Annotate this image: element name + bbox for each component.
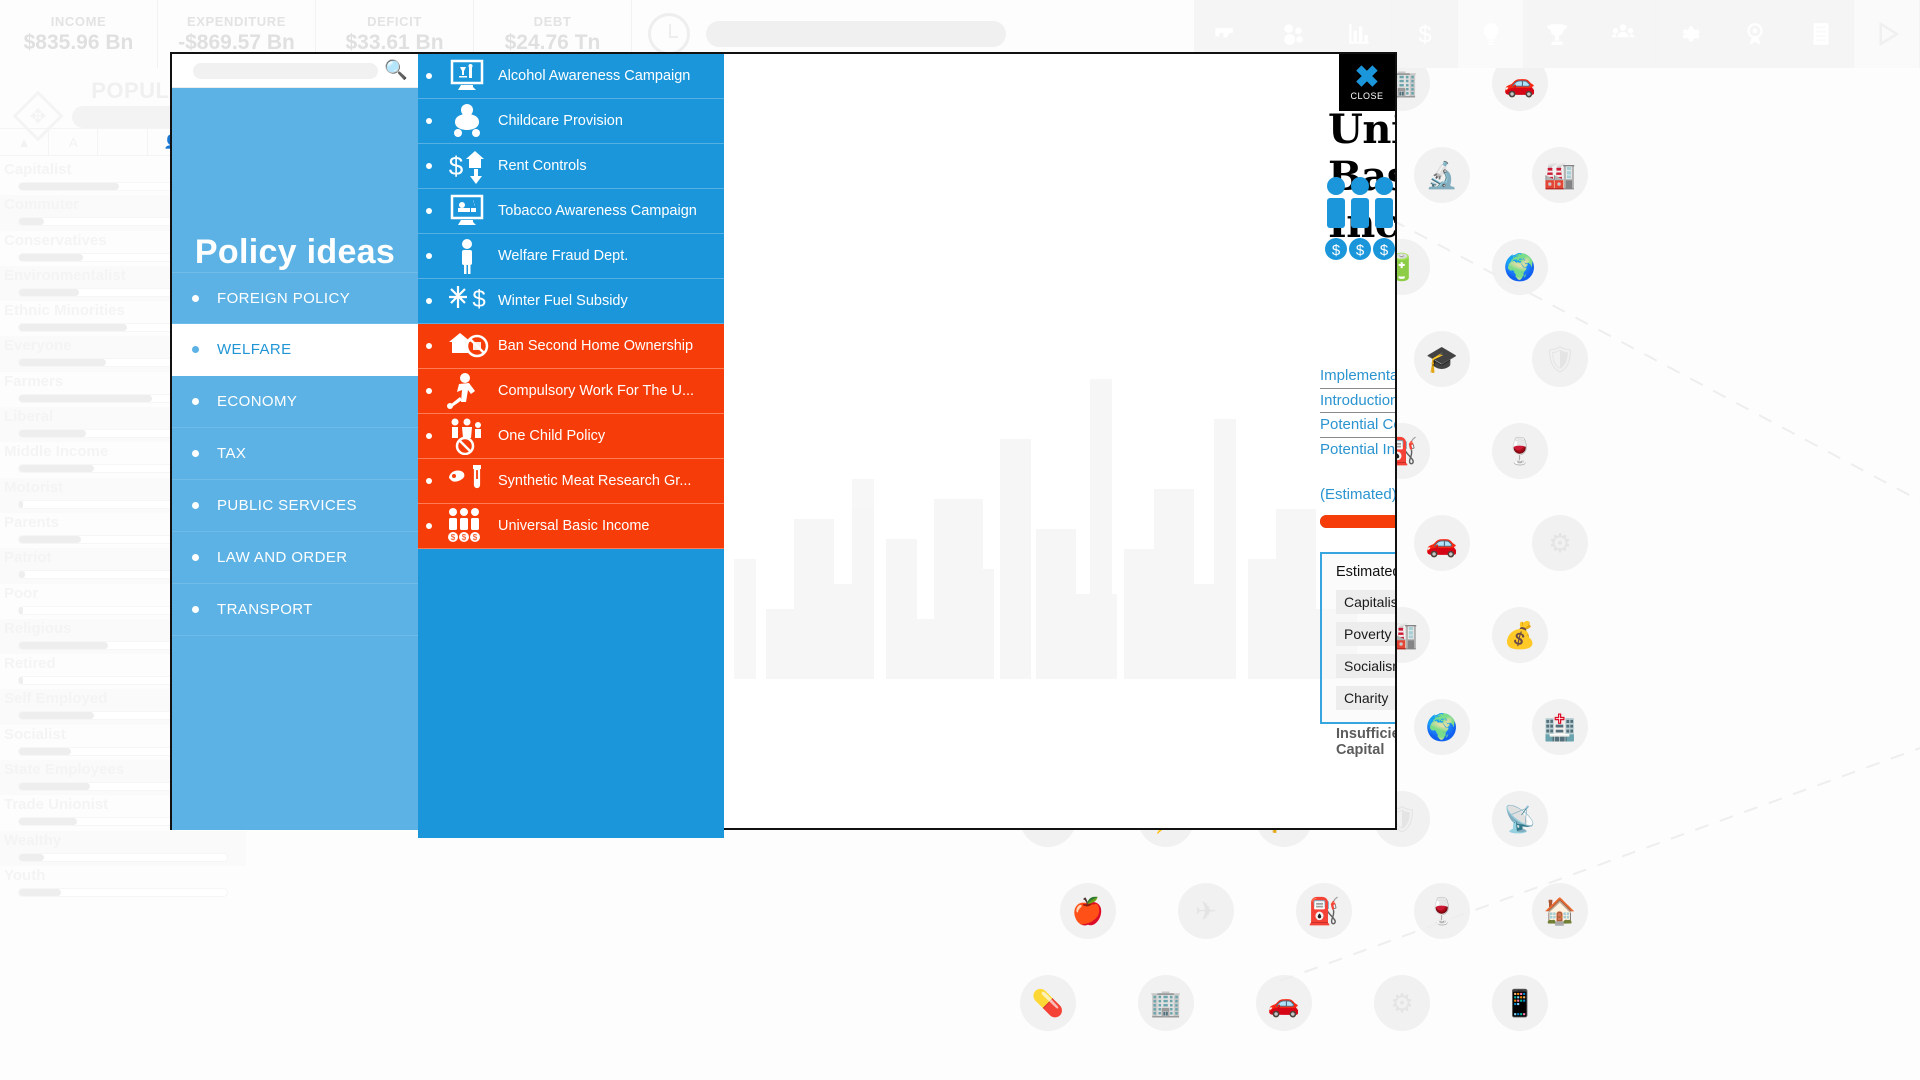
policy-label: Compulsory Work For The U...: [498, 383, 694, 399]
effect-name: Capitalist: [1344, 594, 1395, 610]
dollar-icon[interactable]: $: [1392, 0, 1458, 68]
gear-icon[interactable]: [1656, 0, 1722, 68]
city-skyline-backdrop: [724, 259, 1395, 679]
skyline-building: [886, 539, 917, 679]
medal-icon[interactable]: [1722, 0, 1788, 68]
popularity-meter: [1320, 515, 1395, 528]
background-watermark-icon: 💊: [1020, 975, 1076, 1031]
popularity-group-name: Everyone: [4, 337, 72, 354]
stat-key: Introduction cost (Political capital):: [1320, 392, 1395, 409]
tobacco-screen-icon: [442, 190, 492, 232]
popularity-group-name: Religious: [4, 620, 72, 637]
popularity-group-name: Conservatives: [4, 232, 107, 249]
list-item[interactable]: Alcohol Awareness Campaign: [418, 54, 724, 99]
policy-column: Alcohol Awareness CampaignChildcare Prov…: [418, 54, 724, 828]
popularity-group-name: Youth: [4, 867, 45, 884]
policy-label: Winter Fuel Subsidy: [498, 293, 628, 309]
category-label: FOREIGN POLICY: [217, 290, 350, 307]
popularity-section: (Estimated) Popularity with voters 32%: [1320, 486, 1395, 528]
list-item[interactable]: Tobacco Awareness Campaign: [418, 189, 724, 234]
popularity-group-bar-fill: [19, 818, 77, 825]
category-label: WELFARE: [217, 341, 291, 358]
svg-text:$: $: [449, 151, 464, 181]
background-watermark-icon: 🏢: [1138, 975, 1194, 1031]
skyline-building: [1000, 439, 1031, 679]
svg-text:$: $: [1418, 22, 1431, 47]
svg-text:$: $: [472, 286, 485, 313]
policy-list-empty-area: [418, 549, 724, 838]
background-watermark-icon: ⚙: [1374, 975, 1430, 1031]
bullet-icon: [426, 433, 432, 439]
category-list: Policy ideas FOREIGN POLICYWELFAREECONOM…: [172, 88, 418, 830]
background-watermark-icon: ⛽: [1296, 883, 1352, 939]
sidebar-item-economy[interactable]: ECONOMY: [172, 376, 418, 428]
stat-row: Introduction cost (Political capital):30…: [1320, 389, 1395, 414]
popularity-group-bar-fill: [19, 607, 23, 614]
stat-label: EXPENDITURE: [187, 14, 286, 29]
category-column: 🔍 Policy ideas FOREIGN POLICYWELFAREECON…: [172, 54, 418, 828]
background-watermark-icon: ⚙: [1532, 515, 1588, 571]
close-x-icon: ✖: [1354, 65, 1379, 91]
list-item[interactable]: Synthetic Meat Research Gr...: [418, 459, 724, 504]
bullet-icon: [426, 298, 432, 304]
stat-value: $835.96 Bn: [24, 31, 134, 55]
svg-text:$: $: [473, 533, 478, 542]
popularity-group-name: Trade Unionist: [4, 796, 108, 813]
skyline-building: [972, 569, 994, 679]
popularity-group-name: State Employees: [4, 761, 124, 778]
bullet-icon: [192, 554, 199, 561]
dialog-heading: Policy ideas: [172, 88, 418, 272]
lightbulb-icon[interactable]: [1458, 0, 1524, 68]
popularity-group-bar-fill: [19, 677, 23, 684]
stat-key: Potential Income:: [1320, 441, 1395, 458]
stat-label: INCOME: [51, 14, 107, 29]
dollar-house-icon: $: [442, 145, 492, 187]
close-label: CLOSE: [1350, 91, 1383, 101]
background-watermark-icon: 📱: [1492, 975, 1548, 1031]
background-watermark-icon: 🛡: [1532, 331, 1588, 387]
background-watermark-icon: 🏭: [1532, 147, 1588, 203]
bullet-icon: [426, 523, 432, 529]
popularity-group-bar-fill: [19, 395, 152, 402]
skyline-building: [734, 559, 756, 679]
bullet-icon: [426, 73, 432, 79]
skyline-building: [1124, 549, 1155, 679]
popularity-group-name: Motorist: [4, 479, 63, 496]
list-item[interactable]: One Child Policy: [418, 414, 724, 459]
effect-cell[interactable]: Socialism: [1336, 654, 1395, 678]
bullet-icon: [192, 398, 199, 405]
popularity-group-bar-fill: [19, 536, 81, 543]
group-icon[interactable]: [1590, 0, 1656, 68]
skyline-building: [852, 479, 874, 679]
tab-blank[interactable]: [98, 129, 147, 155]
background-watermark-icon: 🍷: [1414, 883, 1470, 939]
stat-row: Potential Costs:$27.92 Bn - $167.55 Bn: [1320, 413, 1395, 438]
effect-name: Charity: [1344, 690, 1388, 706]
search-input[interactable]: [193, 63, 378, 79]
list-item[interactable]: $$$Universal Basic Income: [418, 504, 724, 549]
policy-stats-table: Implementation time:1 QuartersIntroducti…: [1320, 364, 1395, 462]
warning-message: Insufficient Capital: [1336, 726, 1395, 758]
skyline-building: [766, 609, 797, 679]
people-money-icon: $$$: [442, 505, 492, 547]
popularity-group-name: Retired: [4, 655, 56, 672]
background-watermark-icon: 🍎: [1060, 883, 1116, 939]
meat-lab-icon: [442, 460, 492, 502]
popularity-group-name: Middle Income: [4, 443, 108, 460]
stat-value: $24.76 Tn: [505, 31, 601, 55]
search-bar[interactable]: 🔍: [172, 54, 418, 88]
category-label: LAW AND ORDER: [217, 549, 348, 566]
estimated-effects-panel: Estimated Effects: CapitalistSocialistPo…: [1320, 552, 1395, 724]
sidebar-item-transport[interactable]: TRANSPORT: [172, 584, 418, 636]
background-watermark-icon: 💰: [1492, 607, 1548, 663]
popularity-group-name: Capitalist: [4, 161, 72, 178]
bullet-icon: [192, 450, 199, 457]
document-icon[interactable]: [1788, 0, 1854, 68]
stat-value: -$869.57 Bn: [178, 31, 295, 55]
popularity-group-bar-fill: [19, 289, 79, 296]
play-icon[interactable]: [1854, 0, 1920, 68]
stat-label: DEFICIT: [367, 14, 422, 29]
bullet-icon: [192, 295, 199, 302]
popularity-group-bar-fill: [19, 430, 86, 437]
stat-row: Implementation time:1 Quarters: [1320, 364, 1395, 389]
policy-label: Ban Second Home Ownership: [498, 338, 693, 354]
stat-label: DEBT: [534, 14, 572, 29]
family-ban-icon: [442, 415, 492, 457]
popularity-label: (Estimated) Popularity with voters: [1320, 486, 1395, 503]
list-item[interactable]: Compulsory Work For The U...: [418, 369, 724, 414]
alcohol-screen-icon: [442, 55, 492, 97]
bullet-icon: [192, 502, 199, 509]
policy-label: Rent Controls: [498, 158, 587, 174]
popularity-group-name: Patriot: [4, 549, 52, 566]
popularity-meter-fill: [1320, 515, 1395, 528]
category-label: TRANSPORT: [217, 601, 313, 618]
bullet-icon: [426, 118, 432, 124]
background-watermark-icon: ✈: [1178, 883, 1234, 939]
category-label: ECONOMY: [217, 393, 297, 410]
policy-detail-panel: ✖ CLOSE Universal Basic Income $$: [724, 54, 1395, 828]
list-item[interactable]: Welfare Fraud Dept.: [418, 234, 724, 279]
list-item[interactable]: $Rent Controls: [418, 144, 724, 189]
stat-value: $33.61 Bn: [345, 31, 443, 55]
people-money-icon: $$ $$: [1322, 174, 1395, 274]
app-root: 🍷🏠💊🏢🚗⚙📱💡🔬🏭💰⚖🚌🔋🌍🏥☁⚡🎓🛡📡🍎✈⛽🍷🏠💊🏢🚗⚙📱💡🔬🏭💰⚖🚌🔋🌍🏥…: [0, 0, 1920, 1080]
popularity-group-name: Poor: [4, 585, 38, 602]
sidebar-item-law-and-order[interactable]: LAW AND ORDER: [172, 532, 418, 584]
popularity-group-bar-fill: [19, 359, 106, 366]
svg-text:$: $: [1356, 242, 1365, 259]
popularity-group-bar-fill: [19, 889, 61, 896]
popularity-group-name: Self Employed: [4, 690, 107, 707]
house-ban-icon: [442, 325, 492, 367]
skyline-building: [1214, 419, 1236, 679]
trophy-icon[interactable]: [1524, 0, 1590, 68]
svg-text:$: $: [1380, 242, 1389, 259]
popularity-group-bar-fill: [19, 854, 44, 861]
popularity-row[interactable]: Youth: [0, 866, 246, 901]
policy-label: Alcohol Awareness Campaign: [498, 68, 690, 84]
effect-cell[interactable]: Capitalist: [1336, 590, 1395, 614]
worker-icon: [442, 370, 492, 412]
background-watermark-icon: 🌍: [1414, 699, 1470, 755]
background-watermark-icon: 🚗: [1414, 515, 1470, 571]
bullet-icon: [426, 253, 432, 259]
effect-cell[interactable]: Poverty: [1336, 622, 1395, 646]
svg-text:$: $: [1332, 242, 1341, 259]
popularity-group-bar-fill: [19, 183, 119, 190]
popularity-group-name: Farmers: [4, 373, 63, 390]
policy-ideas-dialog: 🔍 Policy ideas FOREIGN POLICYWELFAREECON…: [170, 52, 1397, 830]
tab-letter-icon[interactable]: A: [49, 129, 98, 155]
popularity-group-bar-fill: [19, 501, 23, 508]
popularity-group-bar-fill: [19, 748, 71, 755]
close-button[interactable]: ✖ CLOSE: [1339, 54, 1395, 111]
bullet-icon: [192, 606, 199, 613]
bullet-icon: [426, 388, 432, 394]
bullet-icon: [426, 163, 432, 169]
popularity-group-bar-fill: [19, 465, 94, 472]
popularity-group-bar-fill: [19, 218, 44, 225]
background-watermark-icon: 🍷: [1492, 423, 1548, 479]
popularity-group-bar-fill: [19, 571, 25, 578]
popularity-group-bar-fill: [19, 783, 90, 790]
background-watermark-icon: 🏠: [1532, 883, 1588, 939]
effects-title: Estimated Effects:: [1322, 554, 1395, 580]
popularity-group-bar: [18, 888, 228, 897]
popularity-group-name: Environmentalist: [4, 267, 126, 284]
popularity-group-bar-fill: [19, 254, 83, 261]
stat-income: INCOME $835.96 Bn: [0, 0, 158, 68]
sidebar-item-welfare[interactable]: WELFARE: [172, 324, 418, 376]
skyline-building: [1248, 559, 1279, 679]
popularity-group-bar-fill: [19, 642, 108, 649]
popularity-group-bar-fill: [19, 712, 94, 719]
bullet-icon: [426, 478, 432, 484]
tab-triangle-icon[interactable]: ▲: [0, 129, 49, 155]
policy-label: Tobacco Awareness Campaign: [498, 203, 697, 219]
policy-label: Childcare Provision: [498, 113, 623, 129]
popularity-group-name: Socialist: [4, 726, 66, 743]
policy-label: Universal Basic Income: [498, 518, 650, 534]
category-label: TAX: [217, 445, 246, 462]
stat-key: Implementation time:: [1320, 367, 1395, 384]
background-watermark-icon: 🎓: [1414, 331, 1470, 387]
policy-label: Welfare Fraud Dept.: [498, 248, 628, 264]
stat-row: Potential Income:none: [1320, 438, 1395, 463]
list-item[interactable]: Ban Second Home Ownership: [418, 324, 724, 369]
policy-label: Synthetic Meat Research Gr...: [498, 473, 691, 489]
person-icon: [442, 235, 492, 277]
bullet-icon: [426, 343, 432, 349]
popularity-group-name: Commuter: [4, 196, 79, 213]
snowflake-dollar-icon: $: [442, 280, 492, 322]
list-item[interactable]: $Winter Fuel Subsidy: [418, 279, 724, 324]
list-item[interactable]: Childcare Provision: [418, 99, 724, 144]
category-label: PUBLIC SERVICES: [217, 497, 357, 514]
effect-cell[interactable]: Charity: [1336, 686, 1395, 710]
background-watermark-icon: 🏥: [1532, 699, 1588, 755]
popularity-group-bar-fill: [19, 324, 127, 331]
popularity-row[interactable]: Wealthy: [0, 831, 246, 866]
search-icon[interactable]: 🔍: [384, 61, 408, 80]
bullet-icon: [192, 346, 199, 353]
background-watermark-icon: 📡: [1492, 791, 1548, 847]
popularity-group-name: Liberal: [4, 408, 53, 425]
background-watermark-icon: 🚗: [1256, 975, 1312, 1031]
svg-text:$: $: [462, 533, 467, 542]
svg-text:$: $: [451, 533, 456, 542]
popularity-group-name: Parents: [4, 514, 59, 531]
effect-name: Socialism: [1344, 658, 1395, 674]
stat-key: Potential Costs:: [1320, 416, 1395, 433]
baby-icon: [442, 100, 492, 142]
sidebar-item-tax[interactable]: TAX: [172, 428, 418, 480]
skyline-building: [1090, 379, 1112, 679]
policy-label: One Child Policy: [498, 428, 605, 444]
popularity-group-name: Ethnic Minorities: [4, 302, 125, 319]
sidebar-item-foreign-policy[interactable]: FOREIGN POLICY: [172, 272, 418, 324]
background-watermark-icon: 🔬: [1414, 147, 1470, 203]
popularity-group-bar: [18, 853, 228, 862]
bullet-icon: [426, 208, 432, 214]
effect-name: Poverty: [1344, 626, 1391, 642]
popularity-group-name: Wealthy: [4, 832, 61, 849]
sidebar-item-public-services[interactable]: PUBLIC SERVICES: [172, 480, 418, 532]
